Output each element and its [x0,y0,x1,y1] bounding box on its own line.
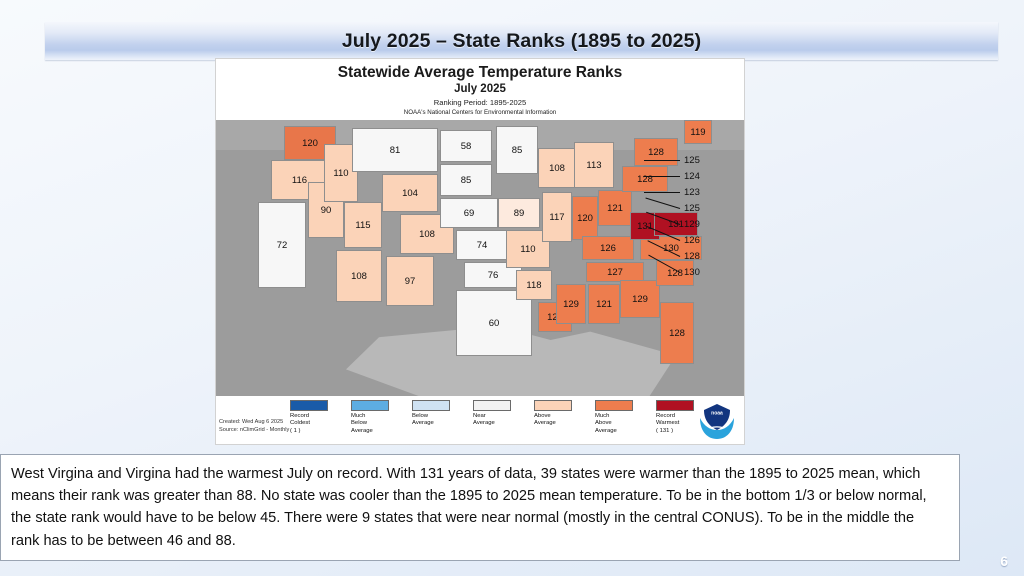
callout-leader-line [644,192,680,193]
state-rank-value: 108 [549,163,565,174]
svg-text:noaa: noaa [711,411,723,417]
state-rank-value: 113 [586,160,601,171]
map-state-fl: 128 [660,302,694,364]
map-state-nm: 97 [386,256,434,306]
legend-color-swatch [595,400,633,411]
state-rank-value: 85 [512,145,523,156]
state-rank-value: 72 [277,240,288,251]
state-rank-value: 90 [321,205,332,216]
state-rank-value: 126 [600,243,616,254]
state-rank-value: 74 [477,240,488,251]
state-rank-value: 58 [461,141,472,152]
callout-ri: 125 [644,200,740,216]
caption-text: West Virgina and Virgina had the warmest… [11,463,945,552]
state-rank-value: 108 [419,229,435,240]
state-rank-value: 129 [563,299,579,310]
state-rank-value: 119 [690,127,705,138]
state-rank-value: 120 [302,138,318,149]
map-state-ms: 129 [556,284,586,324]
map-state-az: 108 [336,250,382,302]
map-state-ut: 115 [344,202,382,248]
callout-rank-value: 123 [684,187,700,198]
state-rank-value: 120 [577,213,593,224]
map-title: Statewide Average Temperature Ranks [216,64,744,81]
slide-title-bar: July 2025 – State Ranks (1895 to 2025) [45,22,998,60]
state-rank-value: 121 [607,203,623,214]
state-rank-value: 121 [596,299,612,310]
map-state-mt: 81 [352,128,438,172]
state-rank-value: 129 [632,294,648,305]
map-state-mi: 113 [574,142,614,188]
state-rank-value: 104 [402,188,418,199]
map-legend: Created: Wed Aug 6 2025 Source: nClimGri… [216,398,744,445]
callout-ma: 123 [644,184,740,200]
map-state-ky: 126 [582,236,634,260]
legend-item: NearAverage [473,400,511,436]
callout-ct: 129 [644,216,740,232]
legend-item-label: AboveAverage [534,413,572,429]
map-credits: Created: Wed Aug 6 2025 Source: nClimGri… [219,418,289,435]
state-rank-value: 85 [461,175,472,186]
map-figure: Statewide Average Temperature Ranks July… [215,58,745,445]
map-state-ia: 89 [498,198,540,228]
state-rank-value: 81 [390,145,401,156]
legend-color-swatch [656,400,694,411]
legend-item: BelowAverage [412,400,450,436]
state-rank-value: 110 [520,244,535,255]
state-rank-value: 110 [333,168,348,179]
callout-rank-value: 125 [684,155,700,166]
map-state-ne: 69 [440,198,498,228]
map-attribution: NOAA's National Centers for Environmenta… [216,109,744,116]
legend-item: MuchAboveAverage [595,400,633,436]
map-subtitle: July 2025 [216,83,744,95]
callout-md: 130 [644,264,740,280]
state-rank-value: 128 [669,328,685,339]
legend-item-label: RecordWarmest( 131 ) [656,413,694,436]
state-rank-value: 115 [355,220,370,231]
page-number: 6 [1000,553,1008,569]
callout-rank-value: 130 [684,267,700,278]
state-rank-value: 97 [405,276,416,287]
map-state-mn: 85 [496,126,538,174]
northeast-callout-group: 125124123125129126128130 [644,152,740,280]
state-rank-value: 76 [488,270,499,281]
state-rank-value: 108 [351,271,367,282]
callout-rank-value: 124 [684,171,700,182]
legend-item: RecordColdest( 1 ) [290,400,328,436]
legend-item-label: MuchBelowAverage [351,413,389,436]
map-state-wy: 104 [382,174,438,212]
state-rank-value: 60 [489,318,500,329]
state-rank-value: 89 [514,208,525,219]
map-state-ks: 74 [456,230,508,260]
legend-item-label: MuchAboveAverage [595,413,633,436]
state-rank-value: 117 [549,212,564,223]
map-state-tn: 127 [586,262,644,282]
map-state-oh: 121 [598,190,632,226]
callout-leader-line [644,176,680,177]
legend-item: RecordWarmest( 131 ) [656,400,694,436]
page-title: July 2025 – State Ranks (1895 to 2025) [342,30,701,53]
map-state-ca: 72 [258,202,306,288]
legend-color-swatch [473,400,511,411]
legend-item: MuchBelowAverage [351,400,389,436]
legend-color-swatch [351,400,389,411]
map-state-nd: 58 [440,130,492,162]
map-state-ga: 129 [620,280,660,318]
map-state-ar: 118 [516,270,552,300]
callout-rank-value: 129 [684,219,700,230]
map-state-in: 120 [572,196,598,240]
legend-color-swatch [290,400,328,411]
map-state-sd: 85 [440,164,492,196]
callout-rank-value: 126 [684,235,700,246]
callout-vt: 125 [644,152,740,168]
map-plot-area: 1201167290110811041151081089758856974766… [216,120,744,396]
caption-box: West Virgina and Virgina had the warmest… [0,454,960,561]
legend-color-swatch [534,400,572,411]
legend-swatch-list: RecordColdest( 1 )MuchBelowAverageBelowA… [290,400,694,436]
map-ranking-period: Ranking Period: 1895-2025 [216,98,744,107]
legend-color-swatch [412,400,450,411]
map-state-wi: 108 [538,148,576,188]
callout-leader-line [645,197,680,208]
credit-created: Created: Wed Aug 6 2025 [219,418,289,426]
state-rank-value: 118 [526,280,541,291]
callout-nh: 124 [644,168,740,184]
map-state-me: 119 [684,120,712,144]
state-rank-value: 116 [292,175,307,186]
legend-item-label: BelowAverage [412,413,450,429]
state-rank-value: 127 [607,267,623,278]
state-rank-value: 69 [464,208,475,219]
map-state-al: 121 [588,284,620,324]
noaa-logo: noaa [697,401,737,441]
callout-rank-value: 125 [684,203,700,214]
callout-rank-value: 128 [684,251,700,262]
legend-item-label: RecordColdest( 1 ) [290,413,328,436]
map-state-il: 117 [542,192,572,242]
map-header: Statewide Average Temperature Ranks July… [216,59,744,116]
legend-item: AboveAverage [534,400,572,436]
callout-leader-line [644,160,680,161]
credit-source: Source: nClimGrid - Monthly [219,426,289,434]
legend-item-label: NearAverage [473,413,511,429]
